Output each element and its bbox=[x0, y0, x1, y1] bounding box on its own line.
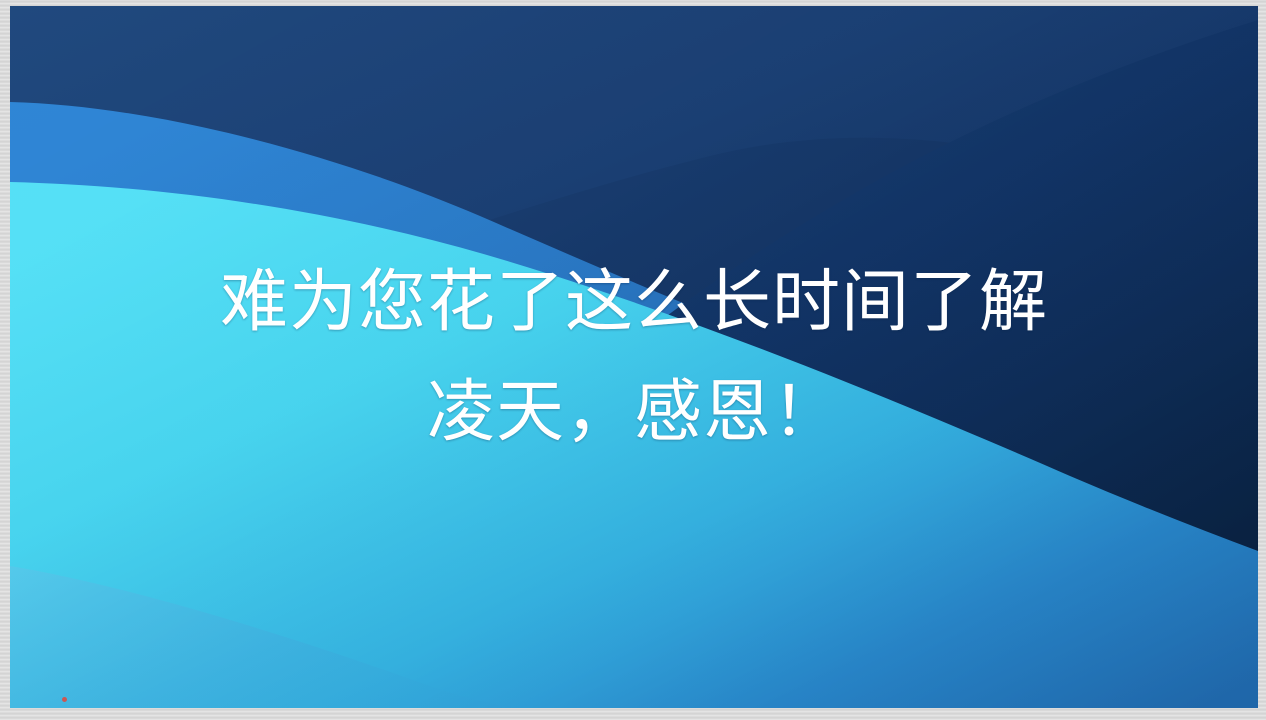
screen-capture-frame: 难为您花了这么长时间了解 凌天，感恩！ bbox=[0, 0, 1266, 720]
background-vignette bbox=[10, 6, 1258, 708]
slide-background-artwork bbox=[10, 6, 1258, 708]
red-cursor-dot bbox=[62, 697, 67, 702]
presentation-slide[interactable]: 难为您花了这么长时间了解 凌天，感恩！ bbox=[10, 6, 1258, 708]
